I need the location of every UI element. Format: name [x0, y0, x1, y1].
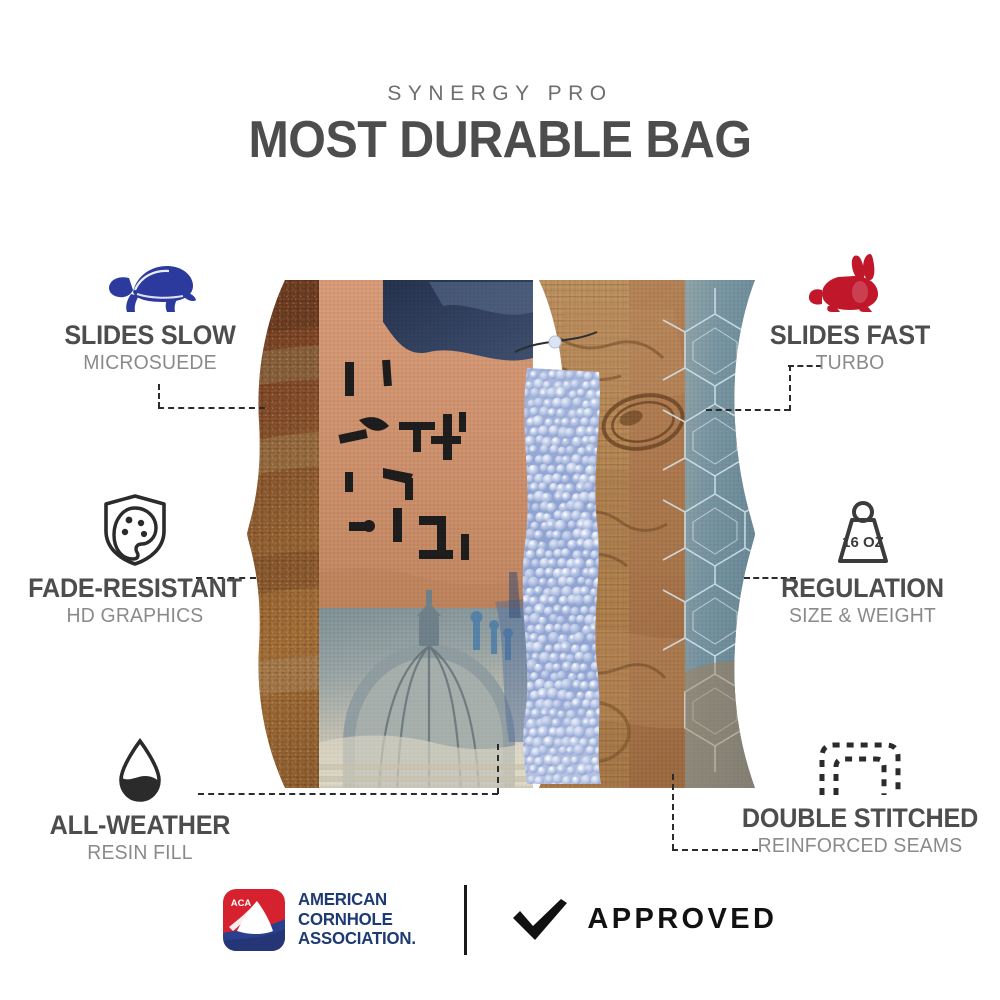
feature-regulation: 16 OZ REGULATION SIZE & WEIGHT — [730, 505, 995, 628]
weight-icon: 16 OZ — [730, 505, 995, 567]
turtle-icon — [20, 252, 280, 314]
checkmark-icon — [511, 898, 569, 942]
feature-title: DOUBLE STITCHED — [727, 803, 993, 834]
feature-title: REGULATION — [737, 573, 989, 604]
feature-subtitle: REINFORCED SEAMS — [724, 835, 996, 858]
page-title: MOST DURABLE BAG — [35, 110, 965, 170]
product-image-cornhole-bag — [233, 272, 768, 792]
aca-line-2: CORNHOLE — [298, 910, 416, 930]
footer-certification: ACA AMERICAN CORNHOLE ASSOCIATION. APPRO… — [0, 872, 1000, 967]
approved-label: APPROVED — [587, 903, 777, 936]
rabbit-icon — [720, 252, 980, 314]
weight-label: 16 OZ — [842, 534, 884, 551]
feature-subtitle: TURBO — [724, 352, 976, 375]
feature-title: ALL-WEATHER — [17, 810, 264, 841]
feature-title: FADE-RESISTANT — [7, 573, 264, 604]
approved-group: APPROVED — [511, 898, 777, 942]
aca-badge-text: ACA — [230, 898, 251, 909]
feature-slides-fast: SLIDES FAST TURBO — [720, 252, 980, 375]
aca-org-name: AMERICAN CORNHOLE ASSOCIATION. — [298, 890, 421, 949]
feature-subtitle: MICROSUEDE — [24, 352, 276, 375]
resin-pellet-fill — [514, 359, 605, 792]
feature-double-stitched: DOUBLE STITCHED REINFORCED SEAMS — [720, 735, 1000, 858]
feature-subtitle: SIZE & WEIGHT — [734, 605, 991, 628]
aca-logo-badge: ACA — [223, 889, 285, 951]
feature-all-weather: ALL-WEATHER RESIN FILL — [10, 742, 270, 865]
feature-title: SLIDES SLOW — [27, 320, 274, 351]
aca-line-1: AMERICAN — [298, 890, 416, 910]
feature-slides-slow: SLIDES SLOW MICROSUEDE — [20, 252, 280, 375]
footer-divider — [464, 885, 467, 955]
feature-subtitle: RESIN FILL — [14, 842, 266, 865]
page-eyebrow: SYNERGY PRO — [0, 82, 1000, 106]
bag-illustration — [233, 272, 768, 792]
feature-title: SLIDES FAST — [727, 320, 974, 351]
aca-line-3: ASSOCIATION. — [298, 929, 416, 949]
stitch-icon — [720, 735, 1000, 797]
feature-fade-resistant: FADE-RESISTANT HD GRAPHICS — [0, 505, 270, 628]
shield-palette-icon — [0, 505, 270, 567]
feature-subtitle: HD GRAPHICS — [4, 605, 266, 628]
water-drop-icon — [10, 742, 270, 804]
